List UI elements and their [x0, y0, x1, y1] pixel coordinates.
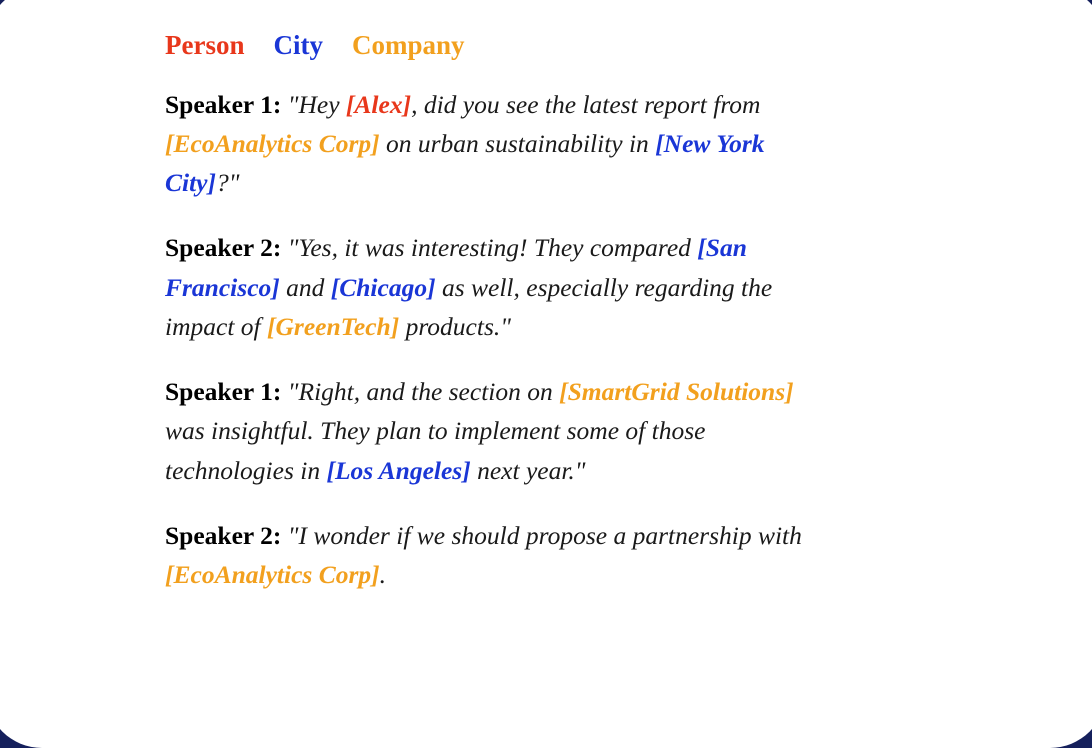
transcript-turn: Speaker 1: "Right, and the section on [S…	[165, 372, 825, 490]
speaker-label: Speaker 2:	[165, 233, 281, 262]
quote-text: "I wonder if we should propose a partner…	[288, 521, 802, 550]
quote-text: products."	[399, 312, 511, 341]
entity-company: [EcoAnalytics Corp]	[165, 560, 380, 589]
transcript-turns: Speaker 1: "Hey [Alex], did you see the …	[165, 85, 825, 595]
entity-company: [SmartGrid Solutions]	[559, 377, 794, 406]
transcript-turn: Speaker 2: "I wonder if we should propos…	[165, 516, 825, 595]
entity-company: [EcoAnalytics Corp]	[165, 129, 380, 158]
entity-person: [Alex]	[346, 90, 411, 119]
quote-text: "Hey	[288, 90, 346, 119]
transcript-turn: Speaker 1: "Hey [Alex], did you see the …	[165, 85, 825, 203]
quote-text: ?"	[216, 168, 239, 197]
entity-type-legend: PersonCityCompany	[165, 32, 825, 59]
quote-text: on urban sustainability in	[380, 129, 656, 158]
quote-text: next year."	[471, 456, 586, 485]
speaker-label: Speaker 1:	[165, 377, 281, 406]
entity-city: [Chicago]	[331, 273, 436, 302]
speaker-label: Speaker 1:	[165, 90, 281, 119]
legend-item-company: Company	[352, 32, 465, 59]
speaker-label: Speaker 2:	[165, 521, 281, 550]
quote-text: .	[380, 560, 386, 589]
quote-text: "Yes, it was interesting! They compared	[288, 233, 697, 262]
transcript-turn: Speaker 2: "Yes, it was interesting! The…	[165, 228, 825, 346]
quote-text: "Right, and the section on	[288, 377, 559, 406]
document-card: PersonCityCompany Speaker 1: "Hey [Alex]…	[0, 0, 1092, 748]
quote-text: , did you see the latest report from	[411, 90, 760, 119]
legend-item-person: Person	[165, 32, 244, 59]
legend-item-city: City	[273, 32, 323, 59]
annotated-transcript: PersonCityCompany Speaker 1: "Hey [Alex]…	[165, 32, 825, 594]
entity-company: [GreenTech]	[267, 312, 399, 341]
quote-text: and	[280, 273, 331, 302]
entity-city: [Los Angeles]	[326, 456, 470, 485]
